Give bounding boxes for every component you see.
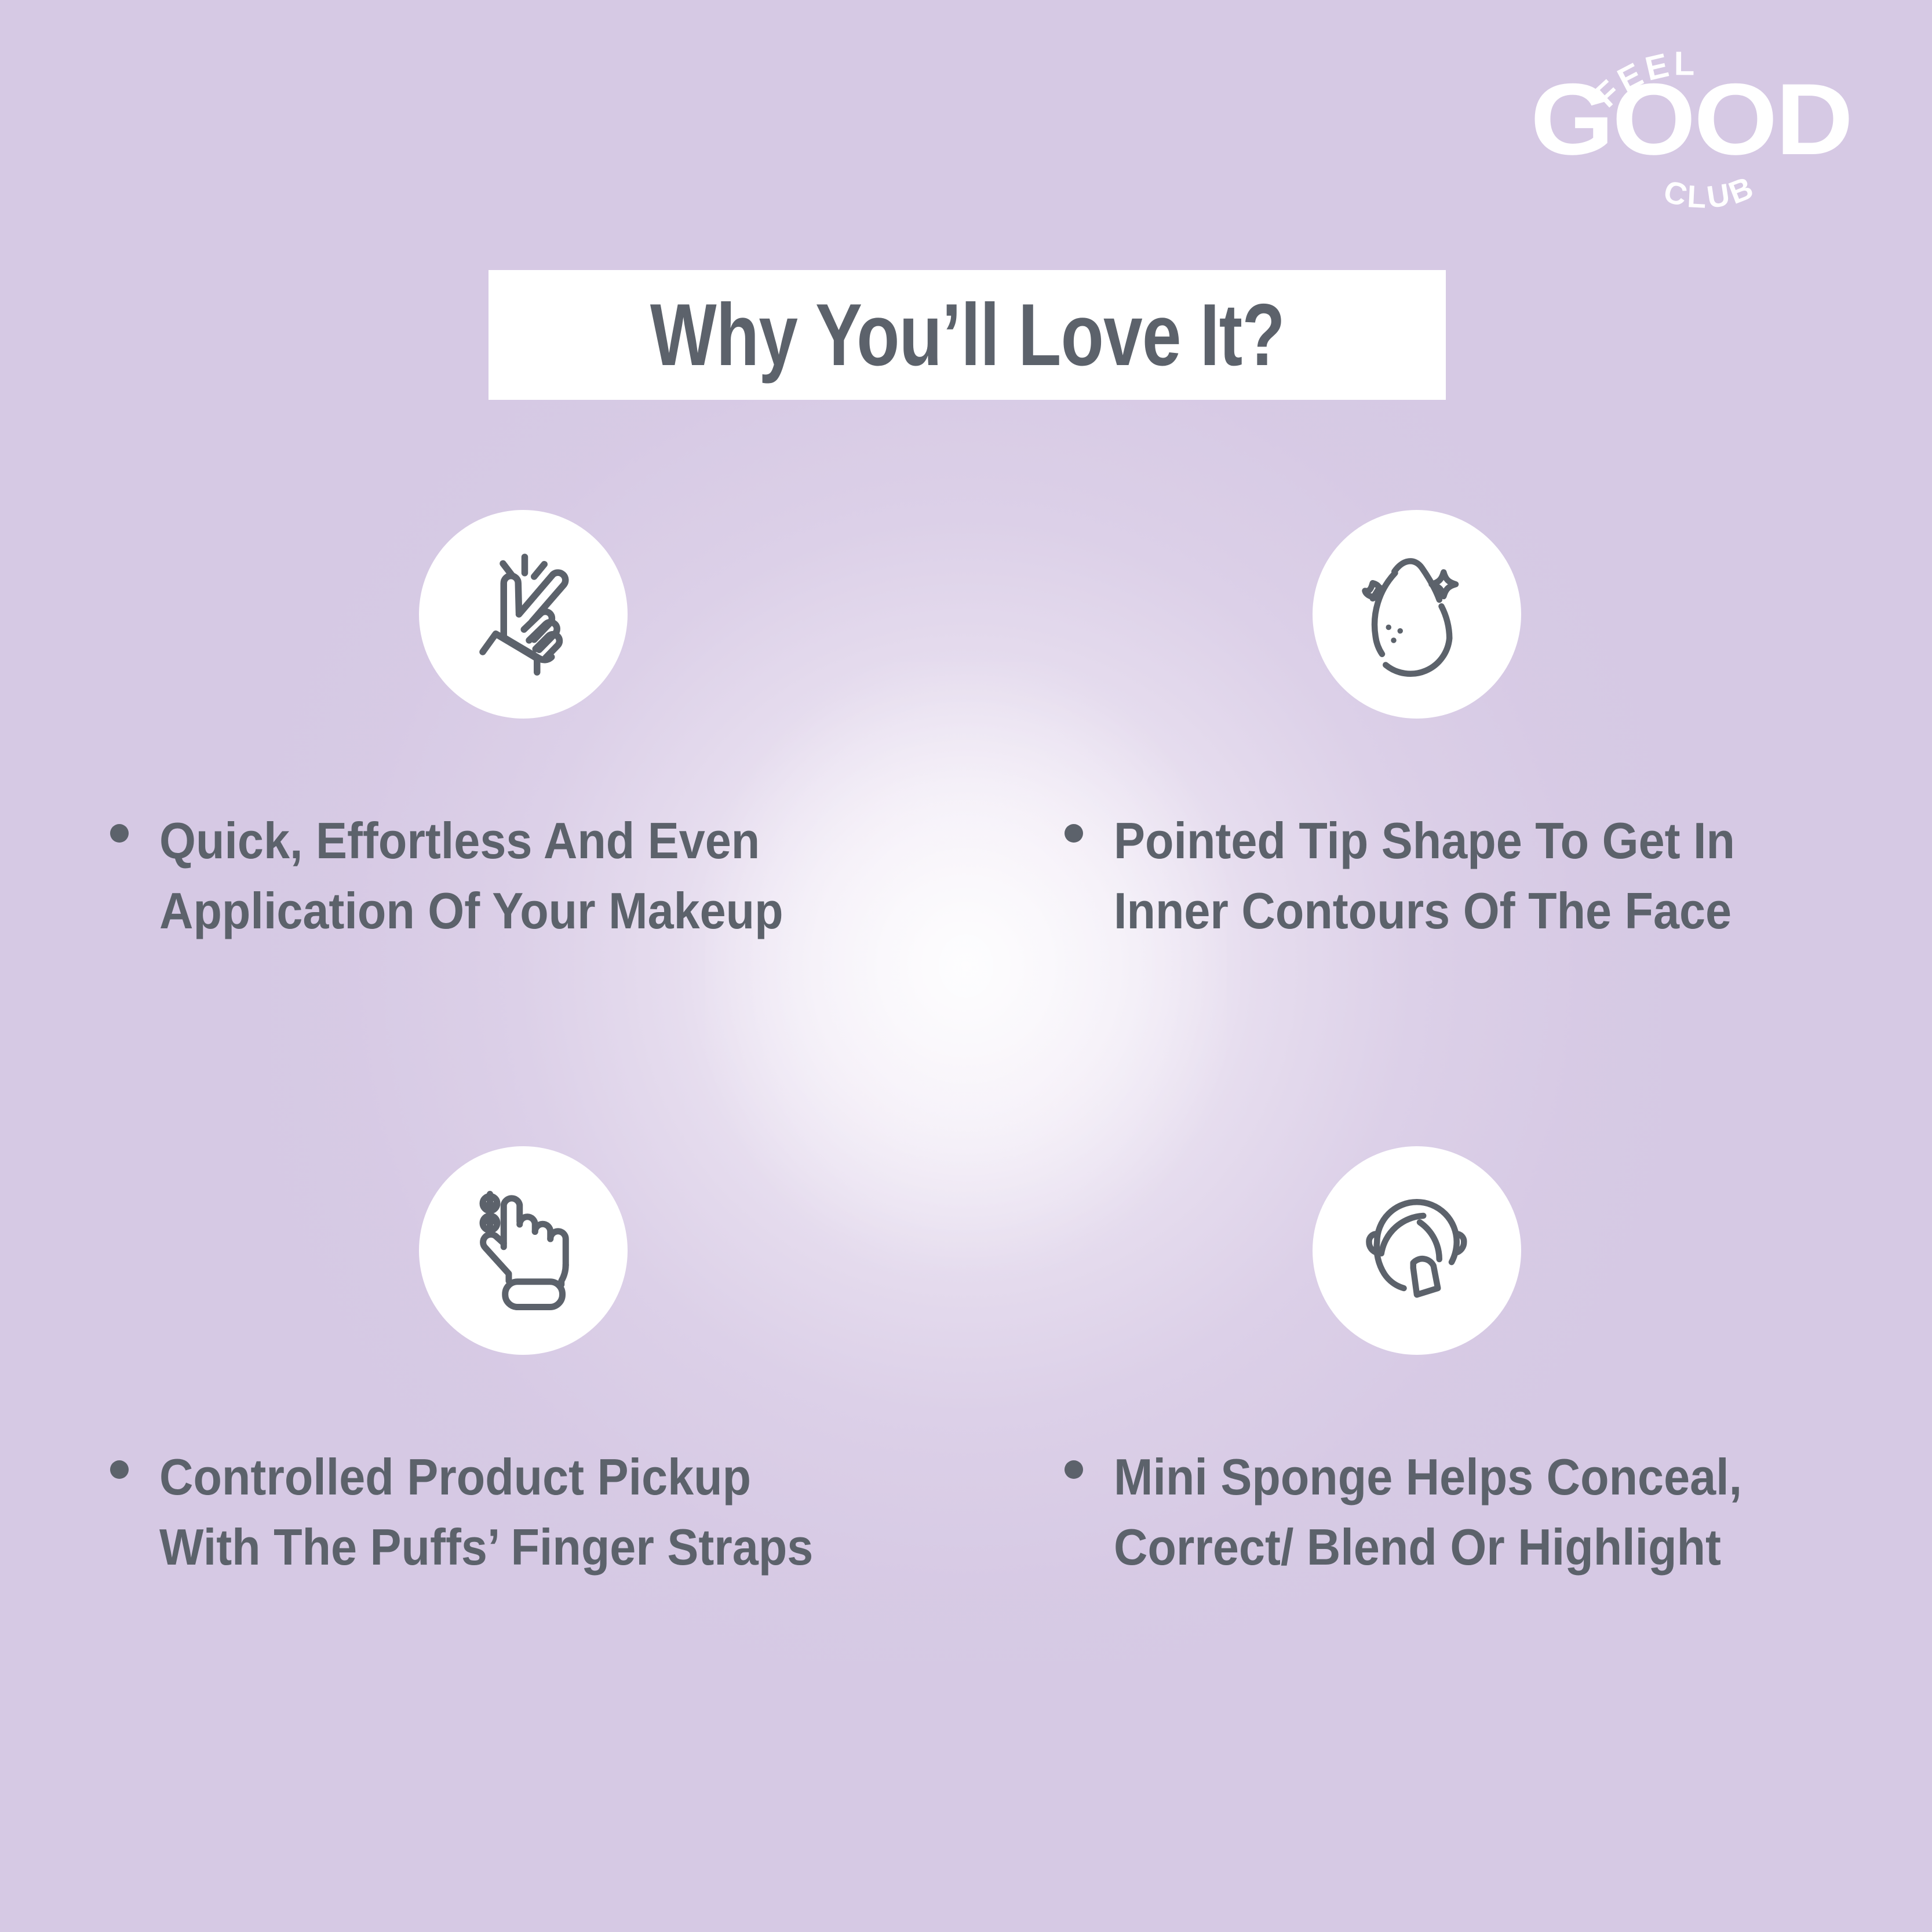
bullet-dot-icon: [110, 824, 129, 843]
promo-graphic: FEEL GOOD CLUB Why You’ll Love It?: [0, 0, 1932, 1932]
bullet-dot-icon: [1065, 1460, 1083, 1479]
feature-line-4a: Mini Sponge Helps Conceal,: [1114, 1448, 1742, 1505]
feature-grid: Quick, Effortless And Even Application O…: [0, 510, 1932, 1583]
teardrop-sponge-sparkle-icon: [1344, 542, 1489, 687]
hand-with-finger-strap-icon: [451, 1178, 596, 1323]
bullet-dot-icon: [110, 1460, 129, 1479]
feature-icon-circle-4: [1313, 1146, 1521, 1355]
feature-lines-4: Mini Sponge Helps Conceal, Correct/ Blen…: [1114, 1442, 1742, 1583]
face-sponge-application-icon: [1344, 1178, 1489, 1323]
feature-lines-1: Quick, Effortless And Even Application O…: [159, 805, 783, 946]
feel-good-club-logo: FEEL GOOD CLUB: [1517, 20, 1865, 228]
feature-text-1: Quick, Effortless And Even Application O…: [0, 805, 966, 946]
feature-icon-circle-2: [1313, 510, 1521, 719]
feature-item-4: Mini Sponge Helps Conceal, Correct/ Blen…: [966, 1146, 1932, 1583]
feature-item-3: Controlled Product Pickup With The Puffs…: [0, 1146, 966, 1583]
feature-item-2: Pointed Tip Shape To Get In Inner Contou…: [966, 510, 1932, 946]
feature-line-1b: Application Of Your Makeup: [159, 876, 783, 946]
feature-item-1: Quick, Effortless And Even Application O…: [0, 510, 966, 946]
feature-line-3b: With The Puffs’ Finger Straps: [159, 1512, 813, 1582]
feature-icon-circle-1: [419, 510, 628, 719]
feature-line-2b: Inner Contours Of The Face: [1114, 876, 1735, 946]
feature-text-4: Mini Sponge Helps Conceal, Correct/ Blen…: [966, 1442, 1932, 1583]
logo-club-text: CLUB: [1660, 169, 1760, 215]
feature-lines-3: Controlled Product Pickup With The Puffs…: [159, 1442, 813, 1583]
feature-line-4b: Correct/ Blend Or Highlight: [1114, 1512, 1742, 1582]
snapping-fingers-icon: [451, 542, 596, 687]
feature-line-1a: Quick, Effortless And Even: [159, 812, 760, 869]
page-title: Why You’ll Love It?: [650, 291, 1285, 379]
feature-line-3a: Controlled Product Pickup: [159, 1448, 751, 1505]
feature-icon-circle-3: [419, 1146, 628, 1355]
feature-line-2a: Pointed Tip Shape To Get In: [1114, 812, 1735, 869]
logo-good-text: GOOD: [1530, 63, 1851, 176]
bullet-dot-icon: [1065, 824, 1083, 843]
feature-text-2: Pointed Tip Shape To Get In Inner Contou…: [966, 805, 1932, 946]
feature-lines-2: Pointed Tip Shape To Get In Inner Contou…: [1114, 805, 1735, 946]
feature-text-3: Controlled Product Pickup With The Puffs…: [0, 1442, 966, 1583]
title-banner: Why You’ll Love It?: [489, 270, 1446, 400]
